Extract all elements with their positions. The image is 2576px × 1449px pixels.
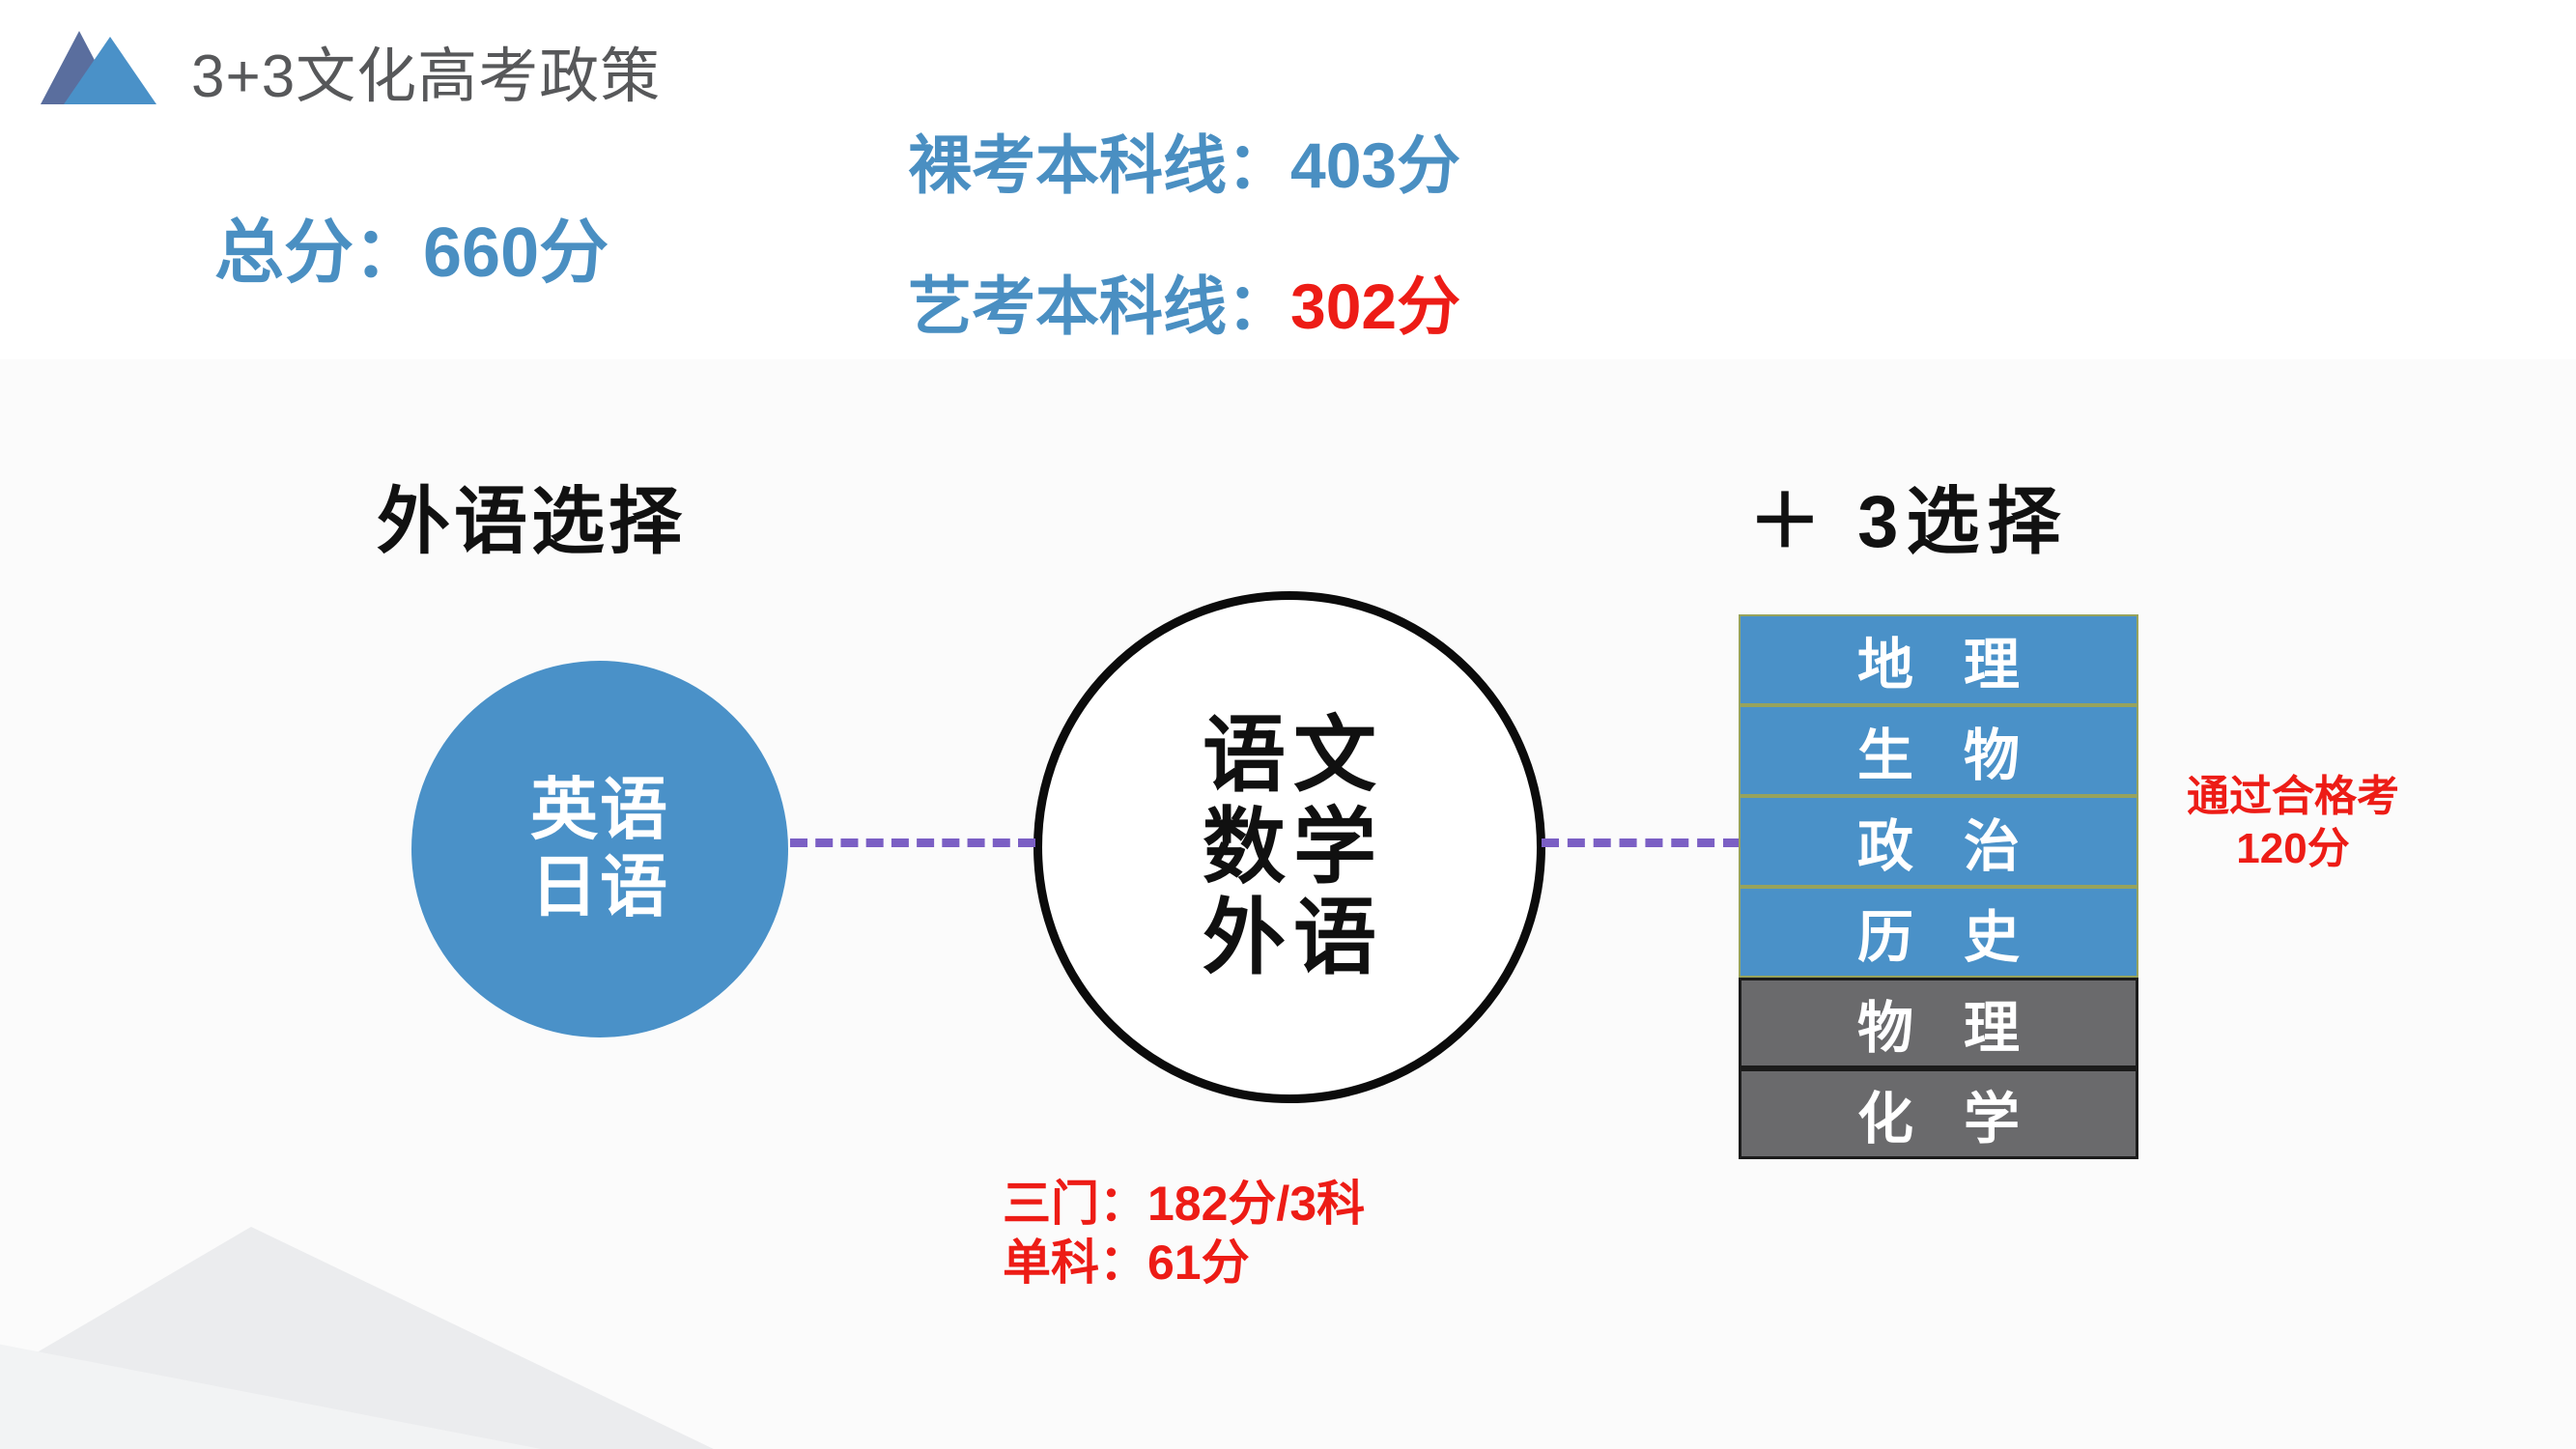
subject-label: 生 物 <box>1840 710 2037 791</box>
language-option-english: 英语 <box>530 772 669 849</box>
core-subject-foreign-language: 外语 <box>1195 893 1384 984</box>
subject-row-politics[interactable]: 政 治 <box>1739 796 2138 887</box>
pass-exam-note-line1: 通过合格考 <box>2187 771 2399 823</box>
pass-exam-note: 通过合格考 120分 <box>2187 771 2399 874</box>
subject-row-biology[interactable]: 生 物 <box>1739 705 2138 796</box>
slide-canvas: 3+3文化高考政策 总分：660分 裸考本科线：403分 艺考本科线：302分 … <box>0 0 2576 1449</box>
foreign-language-circle[interactable]: 英语 日语 <box>411 661 788 1037</box>
subject-row-physics[interactable]: 物 理 <box>1739 978 2138 1068</box>
subject-label: 政 治 <box>1840 801 2037 882</box>
connector-left-dashed-line <box>790 838 1035 847</box>
plus-three-heading: ＋ 3选择 <box>1748 462 2068 568</box>
pass-exam-note-line2: 120分 <box>2187 823 2399 875</box>
core-subjects-circle[interactable]: 语文 数学 外语 <box>1033 591 1545 1103</box>
mountain-logo-icon <box>37 23 160 104</box>
art-exam-score-line: 艺考本科线：302分 <box>908 255 1460 348</box>
art-exam-value: 302分 <box>1290 270 1460 342</box>
elective-subject-stack: 地 理 生 物 政 治 历 史 物 理 化 学 <box>1739 614 2138 1159</box>
core-score-note: 三门：182分/3科 单科：61分 <box>1003 1175 1365 1293</box>
subject-row-geography[interactable]: 地 理 <box>1739 614 2138 705</box>
plain-exam-label: 裸考本科线： <box>908 129 1290 201</box>
subject-label: 化 学 <box>1840 1073 2037 1154</box>
page-title: 3+3文化高考政策 <box>191 27 661 114</box>
connector-right-dashed-line <box>1542 838 1741 847</box>
core-score-note-line1: 三门：182分/3科 <box>1003 1175 1365 1234</box>
art-exam-label: 艺考本科线： <box>908 270 1290 342</box>
core-subject-math: 数学 <box>1195 802 1384 894</box>
core-subject-chinese: 语文 <box>1195 710 1384 802</box>
plain-exam-value: 403分 <box>1290 129 1460 201</box>
subject-label: 地 理 <box>1840 619 2037 700</box>
subject-label: 历 史 <box>1840 892 2037 973</box>
subject-row-history[interactable]: 历 史 <box>1739 887 2138 978</box>
foreign-language-heading: 外语选择 <box>377 462 686 568</box>
subject-row-chemistry[interactable]: 化 学 <box>1739 1068 2138 1159</box>
language-option-japanese: 日语 <box>530 849 669 926</box>
subject-label: 物 理 <box>1840 982 2037 1064</box>
plain-exam-score-line: 裸考本科线：403分 <box>908 114 1460 207</box>
core-score-note-line2: 单科：61分 <box>1003 1234 1365 1293</box>
total-score-label: 总分：660分 <box>214 195 609 297</box>
